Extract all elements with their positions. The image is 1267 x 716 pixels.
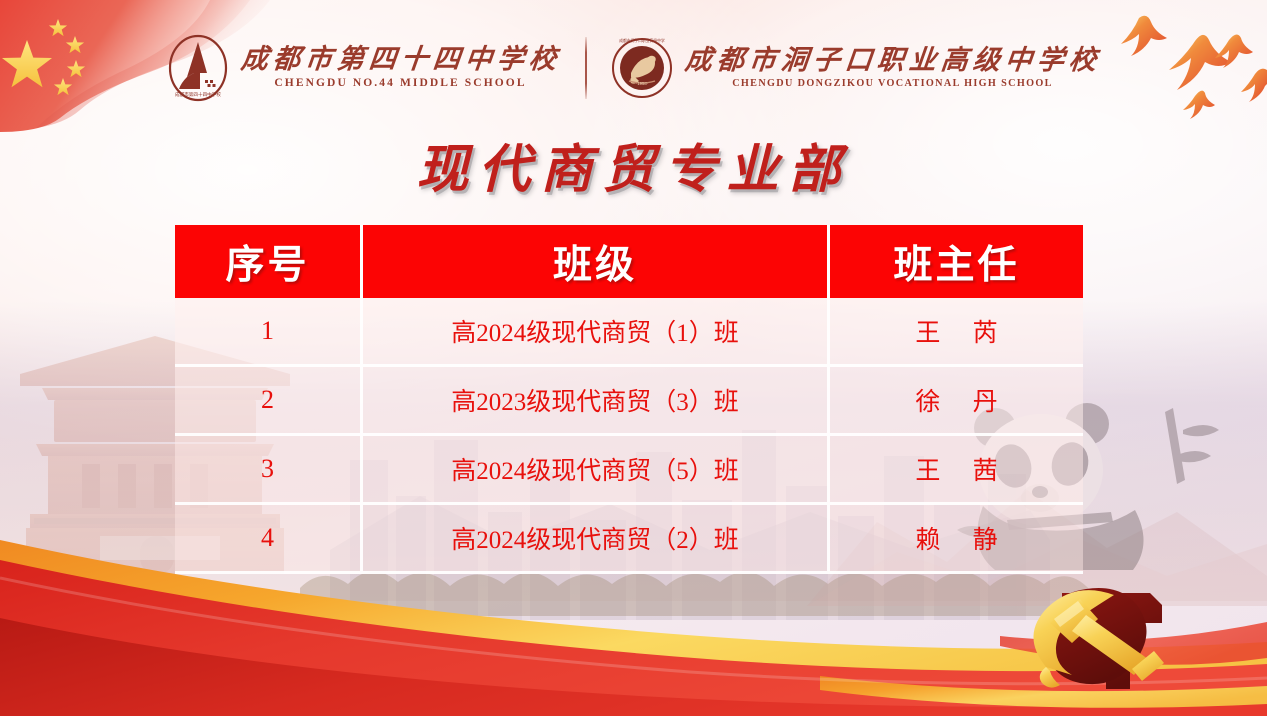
logo-divider — [585, 37, 587, 99]
cell-teacher: 王 芮 — [830, 298, 1083, 367]
cell-teacher: 赖 静 — [830, 505, 1083, 574]
school-left-name-en: CHENGDU NO.44 MIDDLE SCHOOL — [274, 78, 526, 90]
table-row: 3 高2024级现代商贸（5）班 王 茜 — [175, 436, 1083, 505]
table-row: 4 高2024级现代商贸（2）班 赖 静 — [175, 505, 1083, 574]
school-right-name-cn: 成都市洞子口职业高级中学校 — [683, 47, 1102, 74]
school-right-name-en: CHENGDU DONGZIKOU VOCATIONAL HIGH SCHOOL — [732, 79, 1053, 89]
column-header-index: 序号 — [175, 225, 363, 298]
cell-index: 2 — [175, 367, 363, 436]
cell-index: 1 — [175, 298, 363, 367]
svg-text:成都市第四十四中学校: 成都市第四十四中学校 — [175, 91, 221, 98]
column-header-teacher: 班主任 — [830, 225, 1083, 298]
school-left-text: 成都市第四十四中学校 CHENGDU NO.44 MIDDLE SCHOOL — [241, 46, 561, 90]
scroll-emblem-icon: ·1958· 成都市洞子口职业高级中学 — [611, 33, 673, 103]
svg-text:·1958·: ·1958· — [635, 81, 647, 86]
school-left-name-cn: 成都市第四十四中学校 — [239, 46, 562, 73]
cell-class-name: 高2024级现代商贸（1）班 — [363, 298, 830, 367]
svg-text:成都市洞子口职业高级中学: 成都市洞子口职业高级中学 — [619, 38, 665, 43]
cell-index: 4 — [175, 505, 363, 574]
header-logos: 成都市第四十四中学校 成都市第四十四中学校 CHENGDU NO.44 MIDD… — [0, 22, 1267, 114]
school-logo-right: ·1958· 成都市洞子口职业高级中学 成都市洞子口职业高级中学校 CHENGD… — [611, 33, 1101, 103]
table-row: 1 高2024级现代商贸（1）班 王 芮 — [175, 298, 1083, 367]
cell-teacher: 王 茜 — [830, 436, 1083, 505]
cell-class-name: 高2024级现代商贸（2）班 — [363, 505, 830, 574]
cpc-party-emblem-icon — [1002, 571, 1192, 706]
table-row: 2 高2023级现代商贸（3）班 徐 丹 — [175, 367, 1083, 436]
sail-emblem-icon: 成都市第四十四中学校 — [167, 33, 229, 103]
cell-index: 3 — [175, 436, 363, 505]
column-header-class: 班级 — [363, 225, 830, 298]
poster-root: 成都市第四十四中学校 成都市第四十四中学校 CHENGDU NO.44 MIDD… — [0, 0, 1267, 716]
school-logo-left: 成都市第四十四中学校 成都市第四十四中学校 CHENGDU NO.44 MIDD… — [167, 33, 561, 103]
cell-class-name: 高2024级现代商贸（5）班 — [363, 436, 830, 505]
school-right-text: 成都市洞子口职业高级中学校 CHENGDU DONGZIKOU VOCATION… — [685, 47, 1101, 89]
class-roster-table: 序号 班级 班主任 1 高2024级现代商贸（1）班 王 芮 2 高2023级现… — [175, 225, 1083, 574]
table-header-row: 序号 班级 班主任 — [175, 225, 1083, 298]
cell-teacher: 徐 丹 — [830, 367, 1083, 436]
page-title: 现代商贸专业部 — [0, 127, 1267, 202]
cell-class-name: 高2023级现代商贸（3）班 — [363, 367, 830, 436]
